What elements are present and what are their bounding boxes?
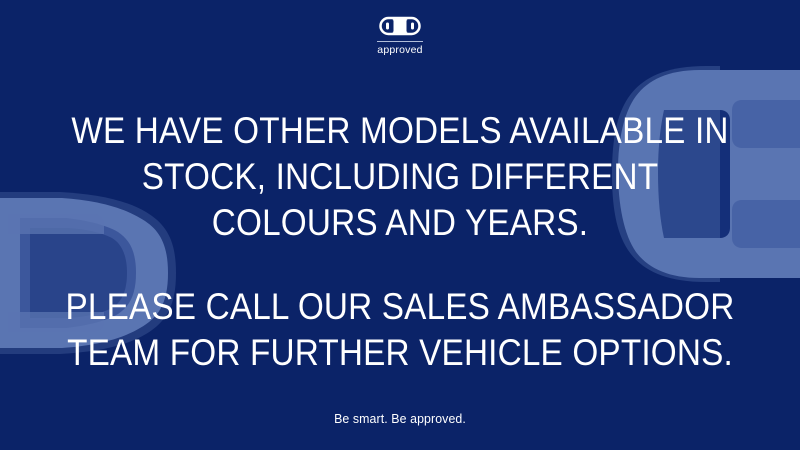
brand-logo: approved <box>0 14 800 56</box>
message-block: WE HAVE OTHER MODELS AVAILABLE IN STOCK,… <box>0 108 800 428</box>
approved-car-icon <box>379 14 421 38</box>
headline-secondary: PLEASE CALL OUR SALES AMBASSADOR TEAM FO… <box>65 284 735 376</box>
logo-wordmark: approved <box>377 45 422 56</box>
headline-primary: WE HAVE OTHER MODELS AVAILABLE IN STOCK,… <box>65 108 735 246</box>
brand-tagline: Be smart. Be approved. <box>47 376 754 428</box>
logo-divider-rule <box>377 41 423 42</box>
promotional-slide: approved WE HAVE OTHER MODELS AVAILABLE … <box>0 0 800 450</box>
